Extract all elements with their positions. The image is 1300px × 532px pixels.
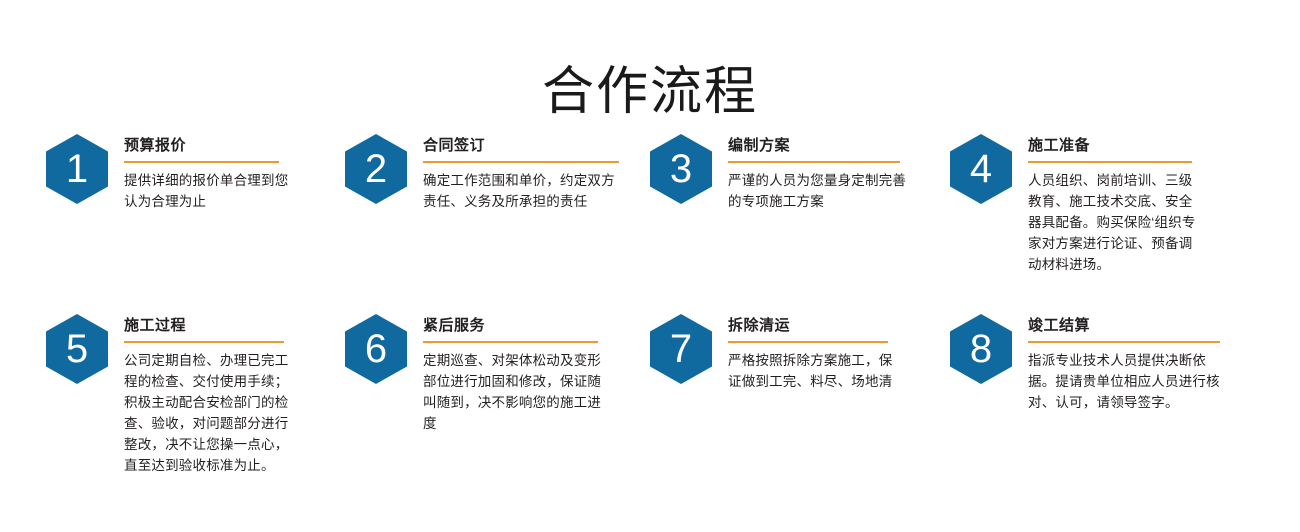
step-description-8: 指派专业技术人员提供决断依据。提请贵单位相应人员进行核对、认可，请领导签字。 <box>1028 350 1230 413</box>
step-description-2: 确定工作范围和单价，约定双方责任、义务及所承担的责任 <box>423 170 628 212</box>
step-number-1: 1 <box>66 149 88 189</box>
step-number-hexagon-8: 8 <box>950 314 1012 384</box>
step-rule-8 <box>1028 341 1220 343</box>
process-step-7: 7 拆除清运 严格按照拆除方案施工，保证做到工完、料尽、场地清 <box>650 314 940 392</box>
step-body-4: 施工准备 人员组织、岗前培训、三级教育、施工技术交底、安全器具配备。购买保险‘组… <box>1028 134 1260 275</box>
process-step-6: 6 紧后服务 定期巡查、对架体松动及变形部位进行加固和修改，保证随叫随到，决不影… <box>345 314 640 434</box>
process-step-5: 5 施工过程 公司定期自检、办理已完工程的检查、交付使用手续；积极主动配合安检部… <box>46 314 336 476</box>
step-description-7: 严格按照拆除方案施工，保证做到工完、料尽、场地清 <box>728 350 900 392</box>
step-description-5: 公司定期自检、办理已完工程的检查、交付使用手续；积极主动配合安检部门的检查、验收… <box>124 350 296 476</box>
step-number-hexagon-2: 2 <box>345 134 407 204</box>
step-description-3: 严谨的人员为您量身定制完善的专项施工方案 <box>728 170 908 212</box>
step-title-1: 预算报价 <box>124 136 336 156</box>
step-number-hexagon-1: 1 <box>46 134 108 204</box>
step-rule-1 <box>124 161 279 163</box>
process-step-1: 1 预算报价 提供详细的报价单合理到您认为合理为止 <box>46 134 336 212</box>
process-step-2: 2 合同签订 确定工作范围和单价，约定双方责任、义务及所承担的责任 <box>345 134 640 212</box>
step-title-5: 施工过程 <box>124 316 336 336</box>
step-body-3: 编制方案 严谨的人员为您量身定制完善的专项施工方案 <box>728 134 940 212</box>
step-body-7: 拆除清运 严格按照拆除方案施工，保证做到工完、料尽、场地清 <box>728 314 940 392</box>
step-body-6: 紧后服务 定期巡查、对架体松动及变形部位进行加固和修改，保证随叫随到，决不影响您… <box>423 314 640 434</box>
step-number-8: 8 <box>970 329 992 369</box>
page-title: 合作流程 <box>0 61 1300 123</box>
step-body-5: 施工过程 公司定期自检、办理已完工程的检查、交付使用手续；积极主动配合安检部门的… <box>124 314 336 476</box>
step-title-2: 合同签订 <box>423 136 640 156</box>
step-description-1: 提供详细的报价单合理到您认为合理为止 <box>124 170 296 212</box>
step-title-7: 拆除清运 <box>728 316 940 336</box>
step-body-1: 预算报价 提供详细的报价单合理到您认为合理为止 <box>124 134 336 212</box>
process-steps-container: 1 预算报价 提供详细的报价单合理到您认为合理为止 2 合同签订 确定工作范围和… <box>0 128 1300 528</box>
step-rule-2 <box>423 161 619 163</box>
step-title-8: 竣工结算 <box>1028 316 1260 336</box>
step-title-3: 编制方案 <box>728 136 940 156</box>
step-description-4: 人员组织、岗前培训、三级教育、施工技术交底、安全器具配备。购买保险‘组织专家对方… <box>1028 170 1204 275</box>
step-body-8: 竣工结算 指派专业技术人员提供决断依据。提请贵单位相应人员进行核对、认可，请领导… <box>1028 314 1260 413</box>
step-description-6: 定期巡查、对架体松动及变形部位进行加固和修改，保证随叫随到，决不影响您的施工进度 <box>423 350 610 434</box>
step-title-4: 施工准备 <box>1028 136 1260 156</box>
step-number-4: 4 <box>970 149 992 189</box>
step-title-6: 紧后服务 <box>423 316 640 336</box>
step-body-2: 合同签订 确定工作范围和单价，约定双方责任、义务及所承担的责任 <box>423 134 640 212</box>
step-rule-3 <box>728 161 900 163</box>
step-number-hexagon-5: 5 <box>46 314 108 384</box>
step-number-2: 2 <box>365 149 387 189</box>
step-number-5: 5 <box>66 329 88 369</box>
step-number-6: 6 <box>365 329 387 369</box>
step-rule-5 <box>124 341 284 343</box>
step-rule-7 <box>728 341 888 343</box>
step-number-hexagon-3: 3 <box>650 134 712 204</box>
process-step-4: 4 施工准备 人员组织、岗前培训、三级教育、施工技术交底、安全器具配备。购买保险… <box>950 134 1260 275</box>
process-step-3: 3 编制方案 严谨的人员为您量身定制完善的专项施工方案 <box>650 134 940 212</box>
step-number-hexagon-4: 4 <box>950 134 1012 204</box>
step-rule-6 <box>423 341 598 343</box>
step-number-3: 3 <box>670 149 692 189</box>
process-step-8: 8 竣工结算 指派专业技术人员提供决断依据。提请贵单位相应人员进行核对、认可，请… <box>950 314 1260 413</box>
step-rule-4 <box>1028 161 1192 163</box>
step-number-hexagon-6: 6 <box>345 314 407 384</box>
step-number-hexagon-7: 7 <box>650 314 712 384</box>
step-number-7: 7 <box>670 329 692 369</box>
